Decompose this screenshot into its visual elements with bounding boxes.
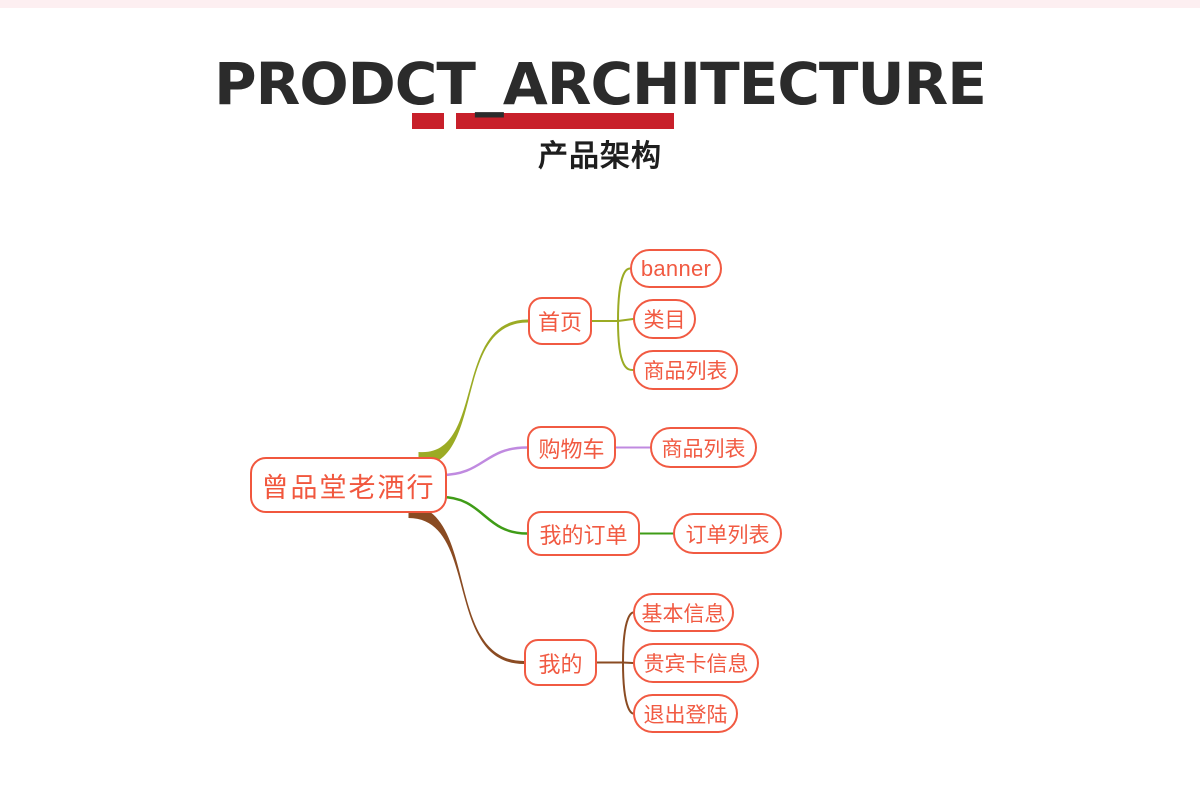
mindmap-branch-label: 购物车: [538, 432, 604, 464]
mindmap-leaf-node-2-1[interactable]: 商品列表: [650, 427, 757, 468]
mindmap-leaf-node-3-1[interactable]: 订单列表: [673, 513, 782, 554]
mindmap-branch-label: 首页: [538, 305, 582, 337]
mindmap-root-node[interactable]: 曾品堂老酒行: [250, 457, 447, 513]
mindmap-branch-node-2[interactable]: 购物车: [527, 426, 616, 469]
mindmap-leaf-label: 订单列表: [686, 519, 770, 549]
page-title: PRODCT_ARCHITECTURE: [214, 55, 986, 113]
mindmap-leaf-node-4-2[interactable]: 贵宾卡信息: [633, 643, 759, 683]
mindmap-branch-label: 我的订单: [539, 518, 627, 550]
mindmap-leaf-node-1-2[interactable]: 类目: [633, 299, 696, 339]
mindmap-leaf-node-1-3[interactable]: 商品列表: [633, 350, 738, 390]
title-block: PRODCT_ARCHITECTURE: [214, 55, 986, 113]
mindmap-branch-node-1[interactable]: 首页: [528, 297, 592, 345]
mindmap-leaf-label: 退出登陆: [644, 699, 728, 729]
mindmap-branch-node-3[interactable]: 我的订单: [527, 511, 640, 556]
mindmap-leaf-label: banner: [641, 256, 711, 282]
mindmap-leaf-label: 类目: [644, 304, 686, 334]
mindmap-branch-node-4[interactable]: 我的: [524, 639, 597, 686]
mindmap-branch-label: 我的: [538, 647, 582, 679]
mindmap-leaf-label: 商品列表: [662, 433, 746, 463]
mindmap-leaf-label: 商品列表: [644, 355, 728, 385]
mindmap-leaf-node-1-1[interactable]: banner: [630, 249, 722, 288]
mindmap-root-label: 曾品堂老酒行: [262, 466, 436, 505]
mindmap-leaf-label: 基本信息: [642, 598, 726, 628]
mindmap-leaf-label: 贵宾卡信息: [644, 648, 749, 678]
mindmap-leaf-node-4-3[interactable]: 退出登陆: [633, 694, 738, 733]
mindmap-leaf-node-4-1[interactable]: 基本信息: [633, 593, 734, 632]
